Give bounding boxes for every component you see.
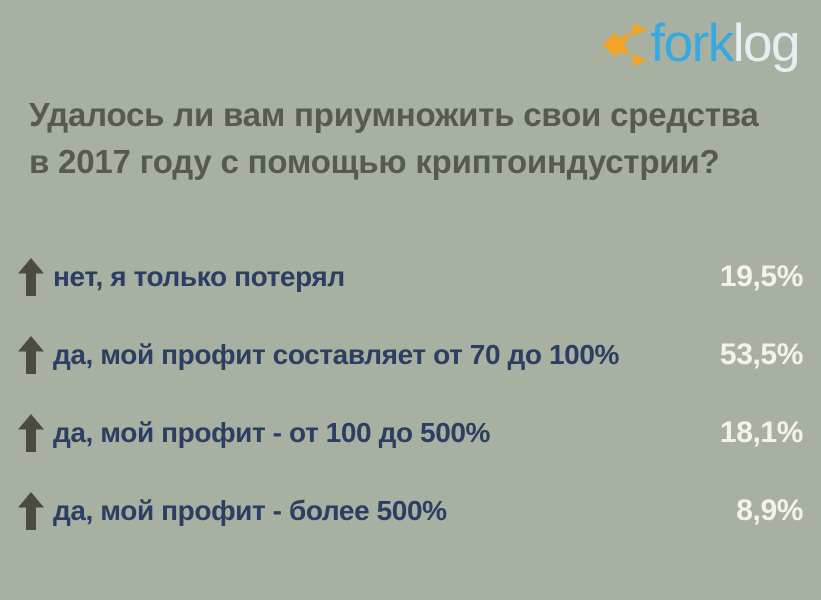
answer-value: 19,5%: [706, 260, 803, 294]
arrow-up-icon: [18, 414, 44, 452]
poll-results-list: нет, я только потерял 19,5% да, мой проф…: [18, 238, 803, 550]
arrow-up-icon: [18, 258, 44, 296]
poll-row: да, мой профит составляет от 70 до 100% …: [18, 316, 803, 394]
poll-question: Удалось ли вам приумножить свои средства…: [29, 92, 799, 186]
answer-label: да, мой профит - от 100 до 500%: [53, 417, 490, 449]
arrow-up-icon: [18, 336, 44, 374]
logo-wordmark: forklog: [650, 17, 799, 70]
poll-row: да, мой профит - от 100 до 500% 18,1%: [18, 394, 803, 472]
logo-text-fork: fork: [650, 14, 732, 73]
poll-row: нет, я только потерял 19,5%: [18, 238, 803, 316]
answer-value: 18,1%: [706, 416, 803, 450]
answer-value: 8,9%: [722, 494, 803, 528]
answer-value: 53,5%: [706, 338, 803, 372]
fork-arrow-icon: [602, 23, 648, 67]
poll-infographic: { "brand": { "mark_icon": "fork-arrow-ic…: [0, 0, 821, 600]
answer-label: да, мой профит - более 500%: [53, 495, 447, 527]
question-line-2: в 2017 году с помощью криптоиндустрии?: [29, 139, 799, 186]
arrow-up-icon: [18, 492, 44, 530]
forklog-logo[interactable]: forklog: [602, 14, 799, 76]
answer-label: нет, я только потерял: [53, 261, 345, 293]
poll-row: да, мой профит - более 500% 8,9%: [18, 472, 803, 550]
logo-text-log: log: [733, 14, 799, 73]
question-line-1: Удалось ли вам приумножить свои средства: [29, 92, 799, 139]
answer-label: да, мой профит составляет от 70 до 100%: [53, 339, 619, 371]
